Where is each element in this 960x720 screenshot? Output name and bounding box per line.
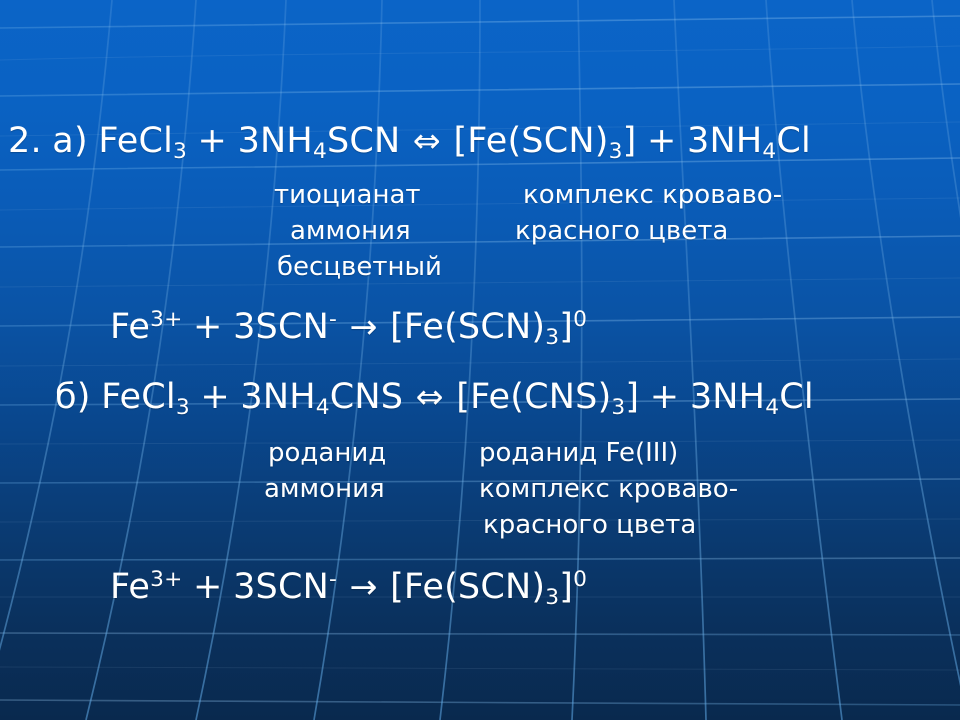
plus-sign: + [200,377,230,417]
subscript-3: 3 [545,585,559,610]
superscript-charge-zero: 0 [573,307,587,332]
product-fescn3: [Fe(SCN) [453,121,608,161]
subscript-3: 3 [545,325,559,350]
equation-1-label: а) [52,121,88,161]
double-arrow-icon: ⇔ [411,121,443,160]
ion-scn: 3SCN [233,307,329,347]
superscript-charge-zero: 0 [573,567,587,592]
right-arrow-icon: → [348,307,380,346]
product-complex: [Fe(SCN) [390,567,545,607]
superscript-charge: 3+ [150,307,182,332]
annotation-product-line-1: роданид Fe(III) [479,440,678,466]
reactant-nh4cns-coeff: 3NH [240,377,315,417]
annotation-reagent-line-1: роданид [268,440,386,466]
subscript-3: 3 [173,139,187,164]
reactant-nh4scn-rest: SCN [327,121,400,161]
annotation-reagent-line-3: бесцветный [277,254,442,280]
annotation-reagent-line-1: тиоцианат [274,182,421,208]
ion-fe: Fe [110,567,150,607]
annotation-reagent-line-2: аммония [264,476,385,502]
bracket-close: ] [623,121,637,161]
bracket-close: ] [625,377,639,417]
plus-sign: + [193,307,223,347]
ion-scn: 3SCN [233,567,329,607]
superscript-charge: 3+ [150,567,182,592]
subscript-4: 4 [762,139,776,164]
annotation-product-line-3: красного цвета [483,512,696,538]
annotation-product-line-1: комплекс кроваво- [523,182,782,208]
product-nh4cl-rest: Cl [779,377,814,417]
superscript-charge: - [329,307,337,332]
right-arrow-icon: → [348,567,380,606]
double-arrow-icon: ⇔ [414,377,446,416]
product-nh4cl-coeff: 3NH [690,377,765,417]
equation-line-4: Fe3++3SCN-→[Fe(SCN)3]0 [110,570,587,605]
annotation-product-line-2: комплекс кроваво- [479,476,738,502]
product-fecns3: [Fe(CNS) [456,377,611,417]
reactant-fecl3: FeCl [98,121,173,161]
ion-fe: Fe [110,307,150,347]
subscript-4: 4 [313,139,327,164]
equation-line-3: б)FeCl3+3NH4CNS⇔[Fe(CNS)3]+3NH4Cl [55,380,814,415]
product-nh4cl-rest: Cl [776,121,811,161]
reactant-nh4scn-coeff: 3NH [238,121,313,161]
bracket-close: ] [559,307,573,347]
superscript-charge: - [329,567,337,592]
reactant-fecl3: FeCl [101,377,176,417]
subscript-3: 3 [609,139,623,164]
equation-3-label: б) [55,377,91,417]
slide-canvas: 2.а)FeCl3+3NH4SCN⇔[Fe(SCN)3]+3NH4Cl тиоц… [0,0,960,720]
plus-sign: + [193,567,223,607]
plus-sign: + [650,377,680,417]
reactant-nh4cns-rest: CNS [330,377,403,417]
product-nh4cl-coeff: 3NH [687,121,762,161]
annotation-reagent-line-2: аммония [290,218,411,244]
annotation-product-line-2: красного цвета [515,218,728,244]
subscript-4: 4 [765,395,779,420]
subscript-4: 4 [316,395,330,420]
slide-content: 2.а)FeCl3+3NH4SCN⇔[Fe(SCN)3]+3NH4Cl тиоц… [0,0,960,720]
plus-sign: + [198,121,228,161]
equation-line-1: 2.а)FeCl3+3NH4SCN⇔[Fe(SCN)3]+3NH4Cl [8,124,811,159]
subscript-3: 3 [611,395,625,420]
plus-sign: + [647,121,677,161]
subscript-3: 3 [176,395,190,420]
equation-line-2: Fe3++3SCN-→[Fe(SCN)3]0 [110,310,587,345]
bracket-close: ] [559,567,573,607]
item-number: 2. [8,121,42,161]
product-complex: [Fe(SCN) [390,307,545,347]
